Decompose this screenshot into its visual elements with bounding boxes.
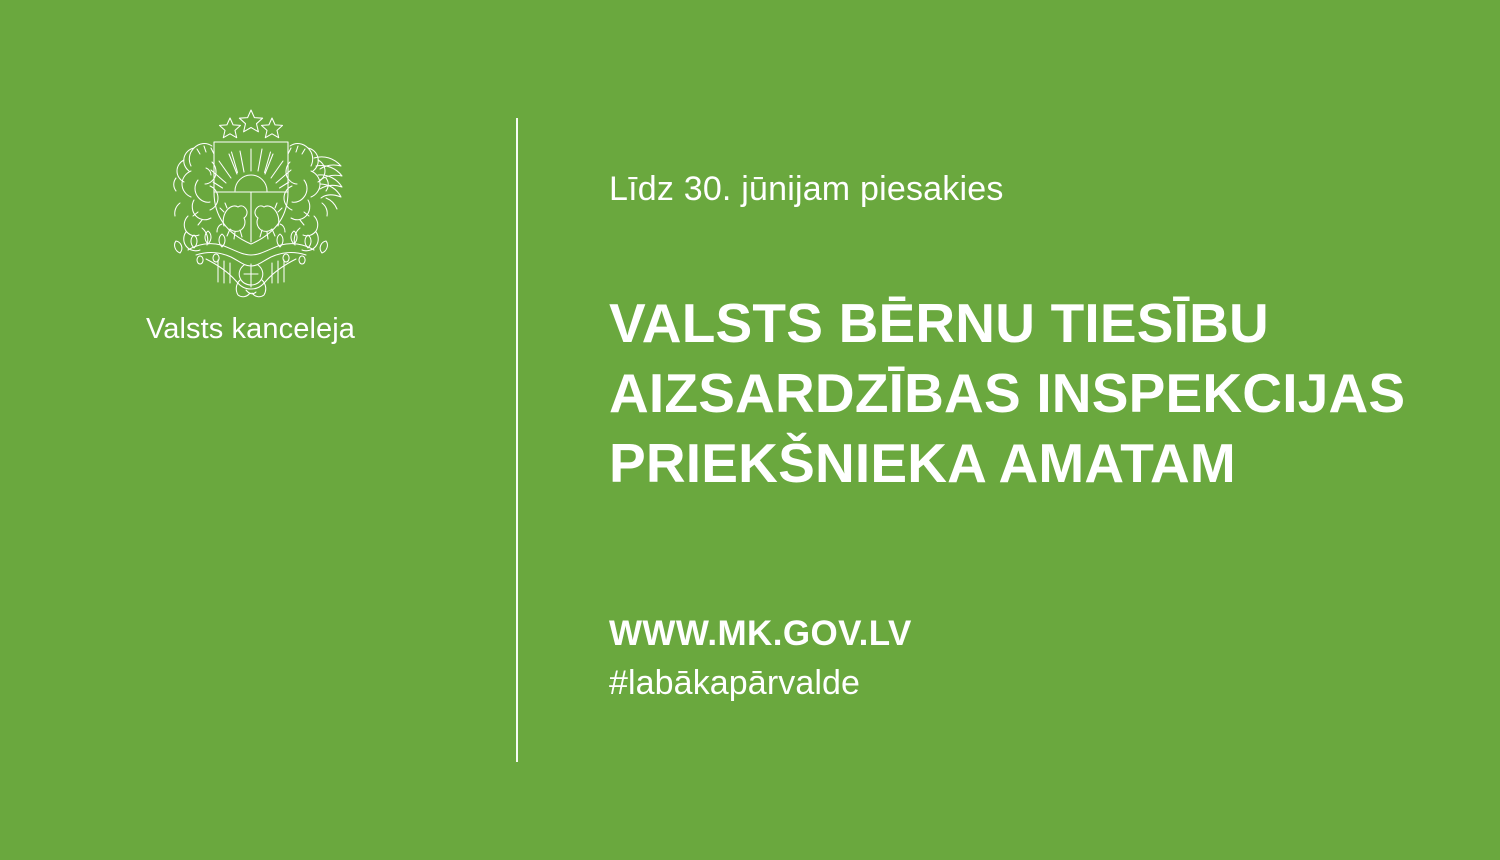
website-url-link[interactable]: WWW.MK.GOV.LV xyxy=(609,612,1109,656)
headline: VALSTS BĒRNU TIESĪBU AIZSARDZĪBAS INSPEK… xyxy=(609,288,1469,498)
griffin-supporter xyxy=(284,144,342,251)
deadline-eyebrow-text: Līdz 30. jūnijam piesakies xyxy=(609,170,1004,209)
headline-line-2: AIZSARDZĪBAS INSPEKCIJAS xyxy=(609,358,1469,428)
lion-supporter xyxy=(173,144,217,251)
sun-rays xyxy=(211,149,291,188)
poster-canvas: Valsts kanceleja Līdz 30. jūnijam piesak… xyxy=(0,0,1500,860)
headline-line-1: VALSTS BĒRNU TIESĪBU xyxy=(609,288,1469,358)
brand-name-label: Valsts kanceleja xyxy=(146,314,355,346)
three-stars-group xyxy=(219,110,282,138)
content-block: Līdz 30. jūnijam piesakies VALSTS BĒRNU … xyxy=(609,0,1469,860)
headline-line-3: PRIEKŠNIEKA AMATAM xyxy=(609,428,1469,498)
campaign-hashtag[interactable]: #labākapārvalde xyxy=(609,662,1109,704)
latvian-coat-of-arms-icon xyxy=(136,108,366,298)
shield-group xyxy=(211,142,291,244)
brand-block: Valsts kanceleja xyxy=(98,108,403,346)
vertical-divider xyxy=(516,118,518,762)
footer-block: WWW.MK.GOV.LV #labākapārvalde xyxy=(609,612,1109,704)
